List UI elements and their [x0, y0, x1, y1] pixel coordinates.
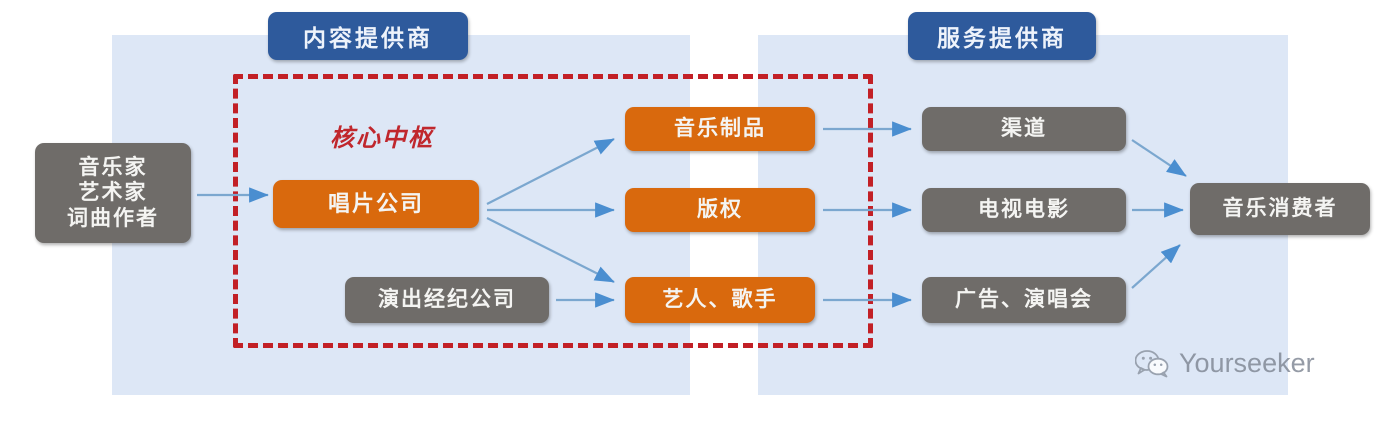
node-artists[interactable]: 音乐家 艺术家 词曲作者	[35, 143, 191, 243]
node-music-products-label: 音乐制品	[674, 116, 766, 142]
header-service-provider[interactable]: 服务提供商	[908, 12, 1096, 60]
wechat-icon	[1135, 350, 1169, 378]
node-tv-film-label: 电视电影	[978, 197, 1070, 223]
node-artists-line-2: 艺术家	[79, 180, 148, 206]
node-channel-label: 渠道	[1001, 116, 1047, 142]
node-artists-line-1: 音乐家	[79, 155, 148, 181]
node-music-products[interactable]: 音乐制品	[625, 107, 815, 151]
header-content-provider-label: 内容提供商	[303, 19, 433, 53]
node-record-company-label: 唱片公司	[328, 191, 424, 218]
watermark: Yourseeker	[1135, 348, 1315, 379]
node-music-consumer-label: 音乐消费者	[1223, 196, 1338, 222]
node-copyright-label: 版权	[697, 197, 743, 223]
node-music-consumer[interactable]: 音乐消费者	[1190, 183, 1370, 235]
node-performance-agency-label: 演出经纪公司	[378, 287, 516, 313]
diagram-canvas: 内容提供商 服务提供商 核心中枢 音乐家 艺术家 词曲作者 唱片公司 演出经纪公…	[0, 0, 1397, 427]
node-record-company[interactable]: 唱片公司	[273, 180, 479, 228]
node-copyright[interactable]: 版权	[625, 188, 815, 232]
node-artists-line-3: 词曲作者	[67, 206, 159, 232]
node-tv-film[interactable]: 电视电影	[922, 188, 1126, 232]
watermark-text: Yourseeker	[1179, 348, 1315, 379]
node-ad-concert-label: 广告、演唱会	[955, 287, 1093, 313]
node-channel[interactable]: 渠道	[922, 107, 1126, 151]
core-hub-label: 核心中枢	[330, 118, 434, 153]
node-artist-singer[interactable]: 艺人、歌手	[625, 277, 815, 323]
header-content-provider[interactable]: 内容提供商	[268, 12, 468, 60]
node-artist-singer-label: 艺人、歌手	[663, 287, 778, 313]
header-service-provider-label: 服务提供商	[937, 19, 1067, 53]
node-ad-concert[interactable]: 广告、演唱会	[922, 277, 1126, 323]
node-performance-agency[interactable]: 演出经纪公司	[345, 277, 549, 323]
